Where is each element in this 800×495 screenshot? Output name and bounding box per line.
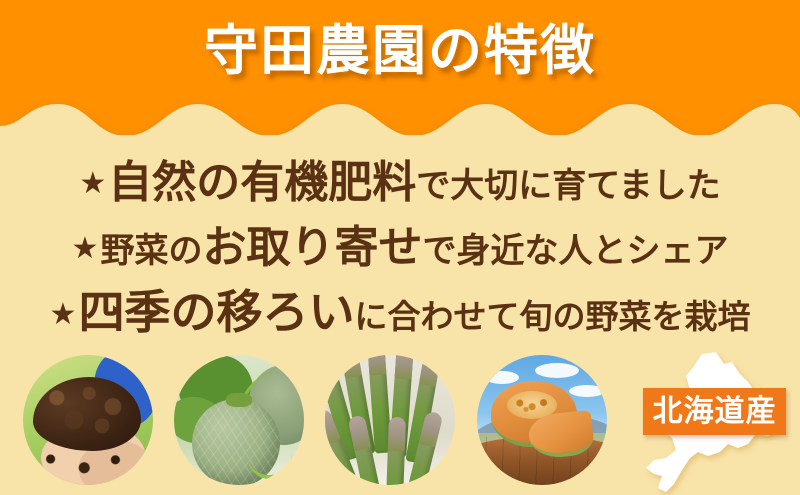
photo-asparagus-bundle: [325, 355, 455, 485]
star-icon: ★: [50, 300, 77, 330]
feature-1-emphasis: 自然の有機肥料: [108, 146, 416, 210]
feature-3-rest: に合わせて旬の野菜を栽培: [354, 290, 750, 338]
page-title: 守田農園の特徴: [0, 18, 800, 82]
photo-green-melon-scene: [174, 355, 304, 485]
photo-cantaloupe-scene: [477, 355, 607, 485]
star-icon: ★: [79, 169, 106, 199]
hokkaido-label-box: 北海道産: [643, 388, 786, 435]
photo-cloud: [485, 371, 519, 384]
feature-2-emphasis: お取り寄せ: [202, 211, 422, 275]
asparagus-spear: [385, 417, 406, 485]
feature-3-emphasis: 四季の移ろい: [78, 276, 354, 342]
photo-compost-soil: [23, 355, 153, 485]
photo-cloud: [569, 385, 605, 397]
photo-compost-debris: [29, 435, 149, 475]
feature-line-2: ★ 野菜の お取り寄せ で身近な人とシェア: [0, 211, 800, 276]
feature-2-rest: で身近な人とシェア: [422, 223, 728, 272]
photo-asparagus-scene: [325, 355, 455, 485]
photo-cloud: [535, 363, 579, 378]
hokkaido-badge: 北海道産: [628, 352, 800, 495]
feature-line-3: ★ 四季の移ろい に合わせて旬の野菜を栽培: [0, 276, 800, 341]
photo-cut-cantaloupe: [477, 355, 607, 485]
photo-asparagus: [325, 355, 455, 485]
photo-green-melon: [174, 355, 304, 485]
feature-1-rest: で大切に育てました: [416, 158, 720, 207]
feature-list: ★ 自然の有機肥料 で大切に育てました ★ 野菜の お取り寄せ で身近な人とシェ…: [0, 146, 800, 341]
photo-melon-stem: [226, 393, 252, 407]
photo-cantaloupe-seeds: [511, 395, 555, 415]
star-icon: ★: [72, 234, 99, 264]
promo-banner: 守田農園の特徴 ★ 自然の有機肥料 で大切に育てました ★ 野菜の お取り寄せ …: [0, 0, 800, 495]
photo-compost-scene: [23, 355, 153, 485]
feature-line-1: ★ 自然の有機肥料 で大切に育てました: [0, 146, 800, 211]
hokkaido-label-text: 北海道産: [653, 397, 777, 427]
photo-melon-vine-second: [246, 425, 292, 479]
feature-2-prefix: 野菜の: [100, 223, 202, 272]
